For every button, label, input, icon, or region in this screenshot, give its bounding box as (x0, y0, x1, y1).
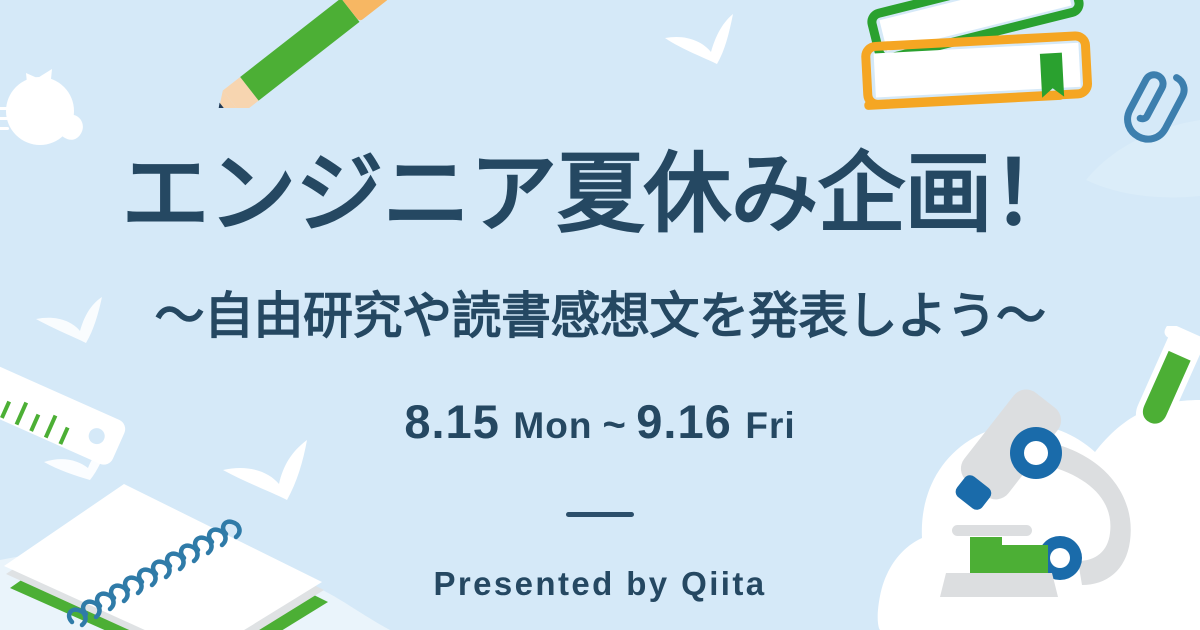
summer-campaign-banner: エンジニア夏休み企画！ ～自由研究や読書感想文を発表しよう～ 8.15 Mon~… (0, 0, 1200, 630)
bird-above-notebook-icon (40, 440, 120, 486)
bird-left-icon (30, 295, 116, 357)
microscope-icon (930, 385, 1200, 630)
paperclip-icon (1118, 58, 1190, 148)
book-orange-icon (855, 25, 1105, 130)
cat-silhouette-icon (0, 55, 114, 171)
bird-top-icon (655, 12, 755, 82)
bird-lower-left-icon (215, 438, 325, 514)
pencil-icon (185, 0, 415, 108)
